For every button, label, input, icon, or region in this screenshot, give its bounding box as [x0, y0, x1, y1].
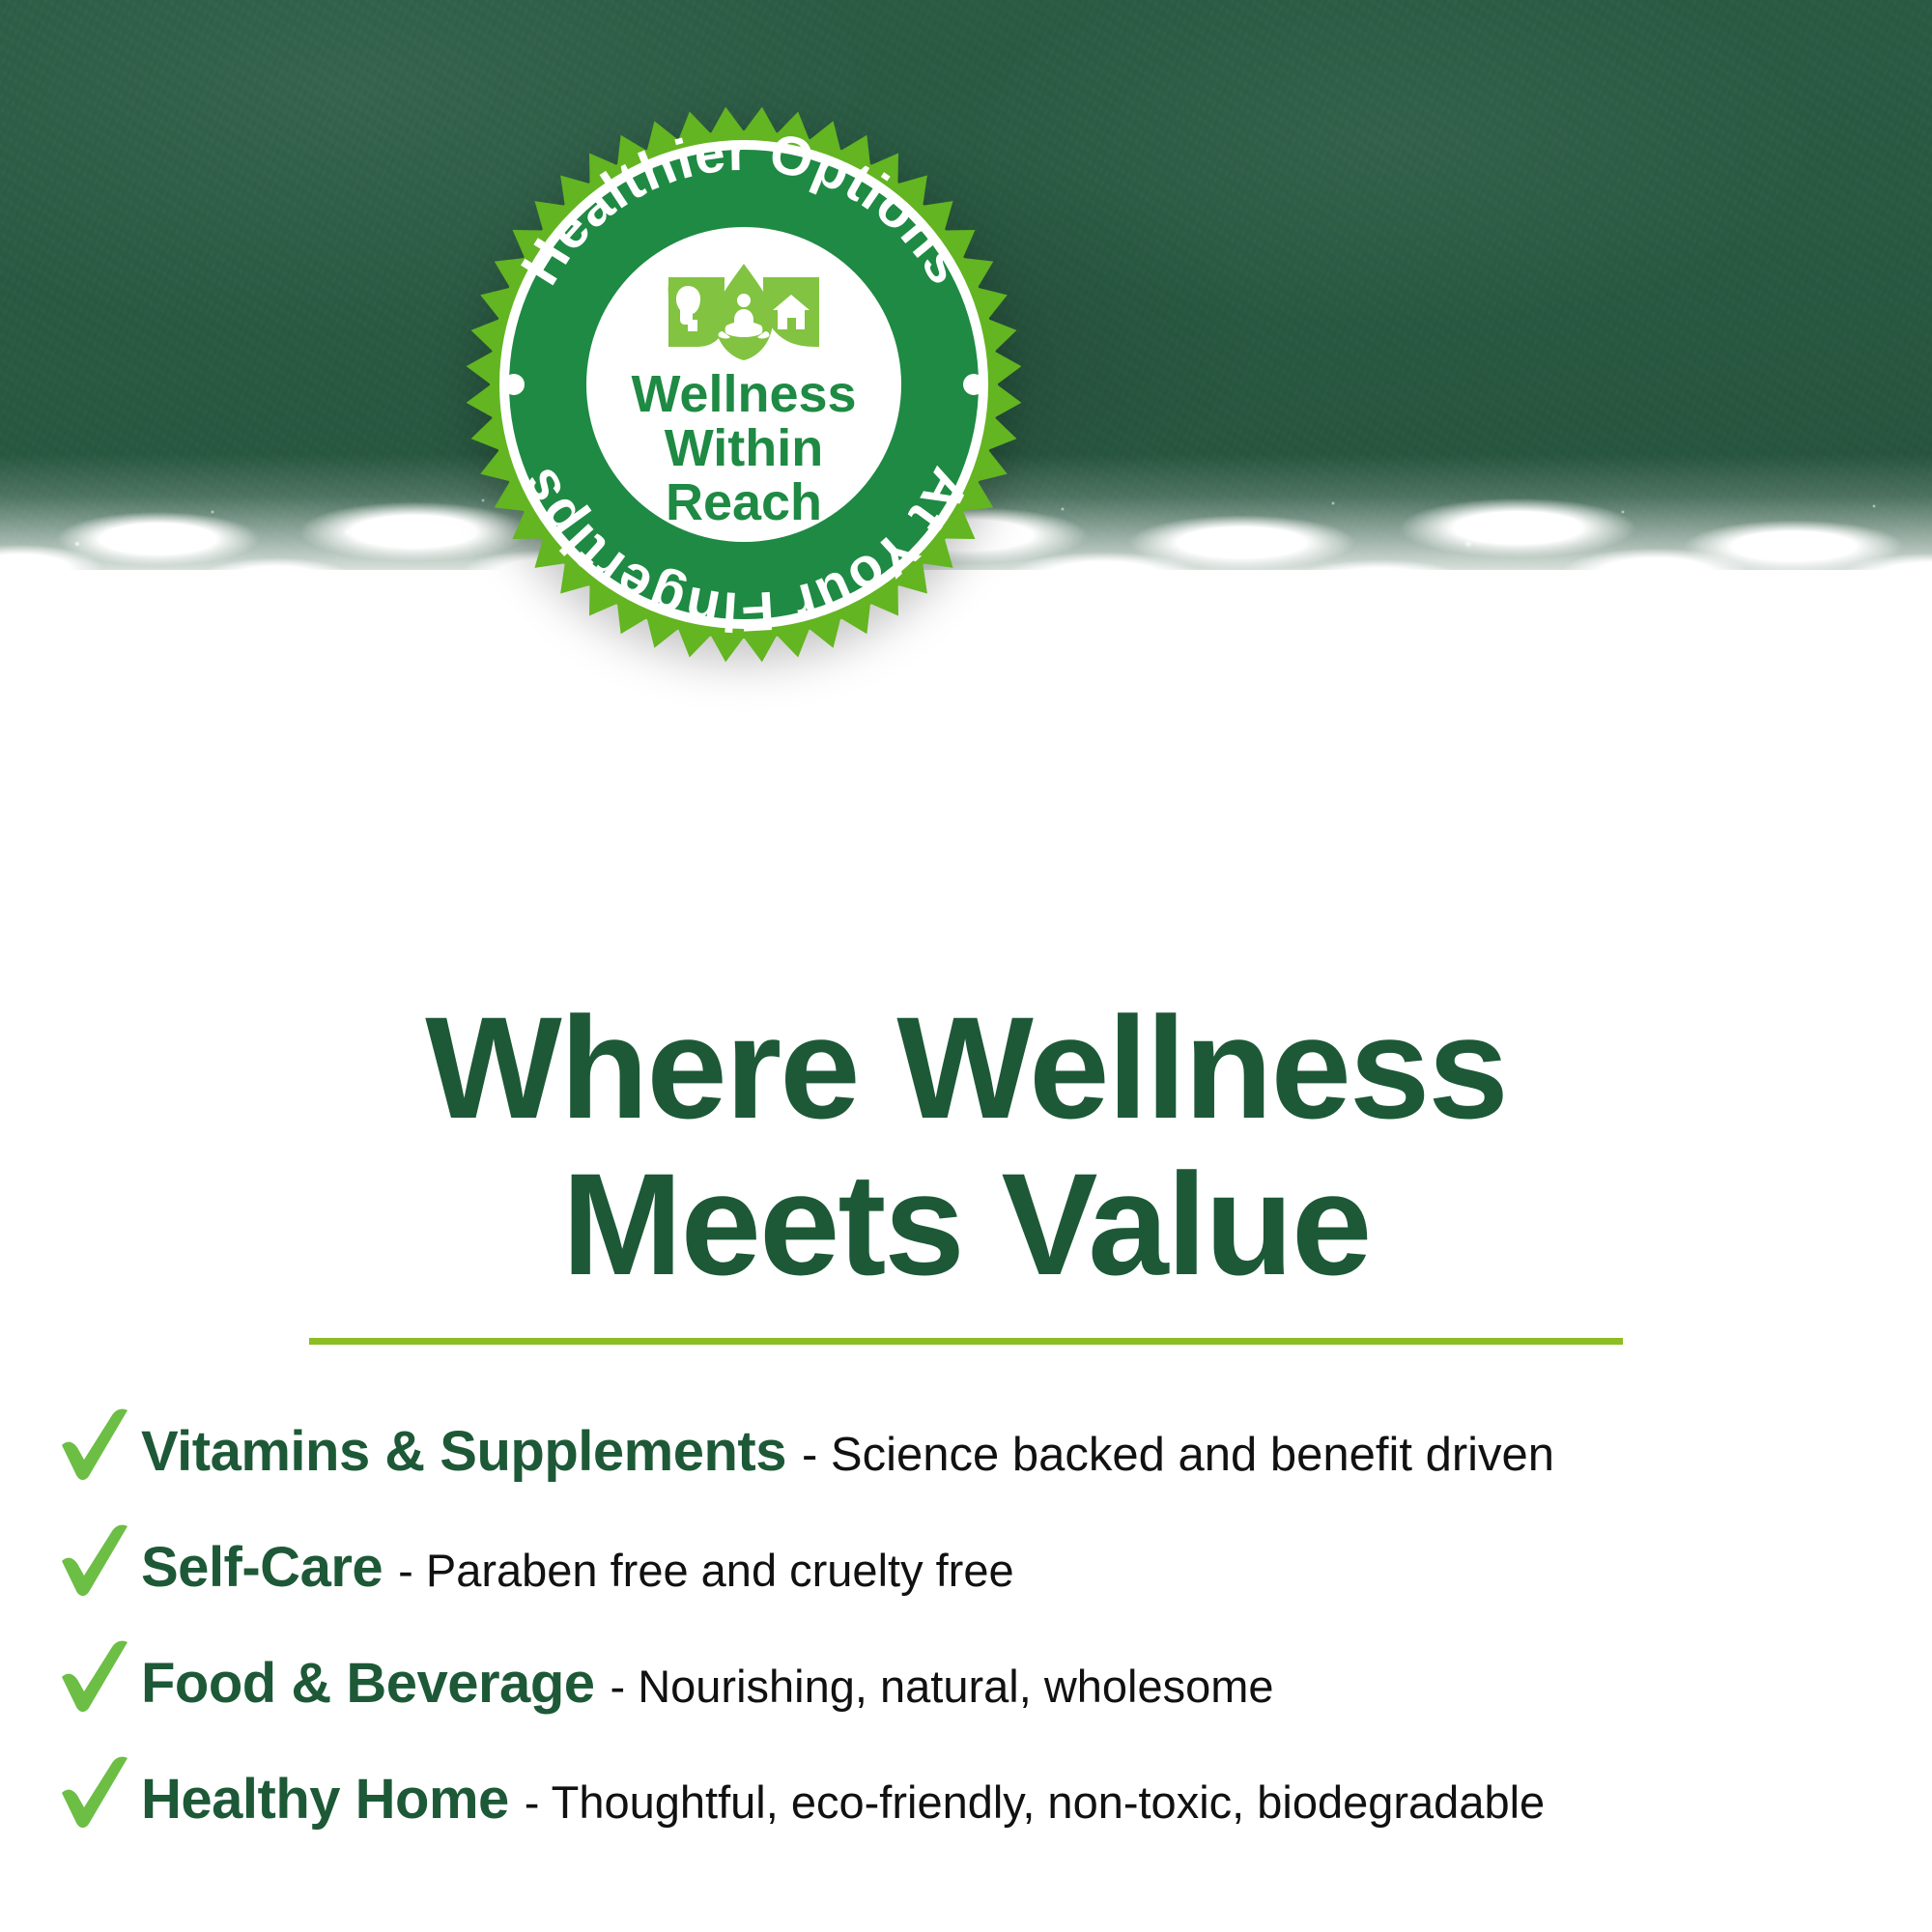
feature-list: Vitamins & Supplements - Science backed … [54, 1389, 1918, 1853]
badge-center-line-3: Reach [666, 473, 822, 531]
list-item-title: Food & Beverage [141, 1651, 595, 1716]
list-item: Food & Beverage - Nourishing, natural, w… [54, 1621, 1918, 1716]
badge-center-line-1: Wellness [631, 365, 856, 423]
check-mark-icon [54, 1519, 135, 1600]
list-item: Self-Care - Paraben free and cruelty fre… [54, 1505, 1918, 1600]
list-item-description: - Paraben free and cruelty free [398, 1544, 1013, 1597]
badge-separator-dot-right [963, 374, 984, 395]
headline-line-1: Where Wellness [425, 986, 1507, 1149]
list-item-title: Self-Care [141, 1535, 383, 1600]
list-item-description: - Science backed and benefit driven [802, 1428, 1554, 1482]
check-mark-icon [54, 1750, 135, 1832]
list-item-title: Vitamins & Supplements [141, 1419, 786, 1484]
list-item-title: Healthy Home [141, 1767, 509, 1832]
section-divider [309, 1338, 1623, 1345]
badge-separator-dot-left [503, 374, 525, 395]
check-mark-icon [54, 1634, 135, 1716]
wellness-badge: Healthier Options At Your Fingertips [464, 104, 1024, 665]
list-item: Healthy Home - Thoughtful, eco-friendly,… [54, 1737, 1918, 1832]
check-mark-icon [54, 1403, 135, 1484]
list-item: Vitamins & Supplements - Science backed … [54, 1389, 1918, 1484]
page-title: Where Wellness Meets Value [0, 995, 1932, 1296]
badge-center-line-2: Within [665, 419, 823, 477]
list-item-description: - Nourishing, natural, wholesome [611, 1660, 1274, 1713]
list-item-description: - Thoughtful, eco-friendly, non-toxic, b… [525, 1776, 1545, 1829]
headline-line-2: Meets Value [0, 1151, 1932, 1296]
